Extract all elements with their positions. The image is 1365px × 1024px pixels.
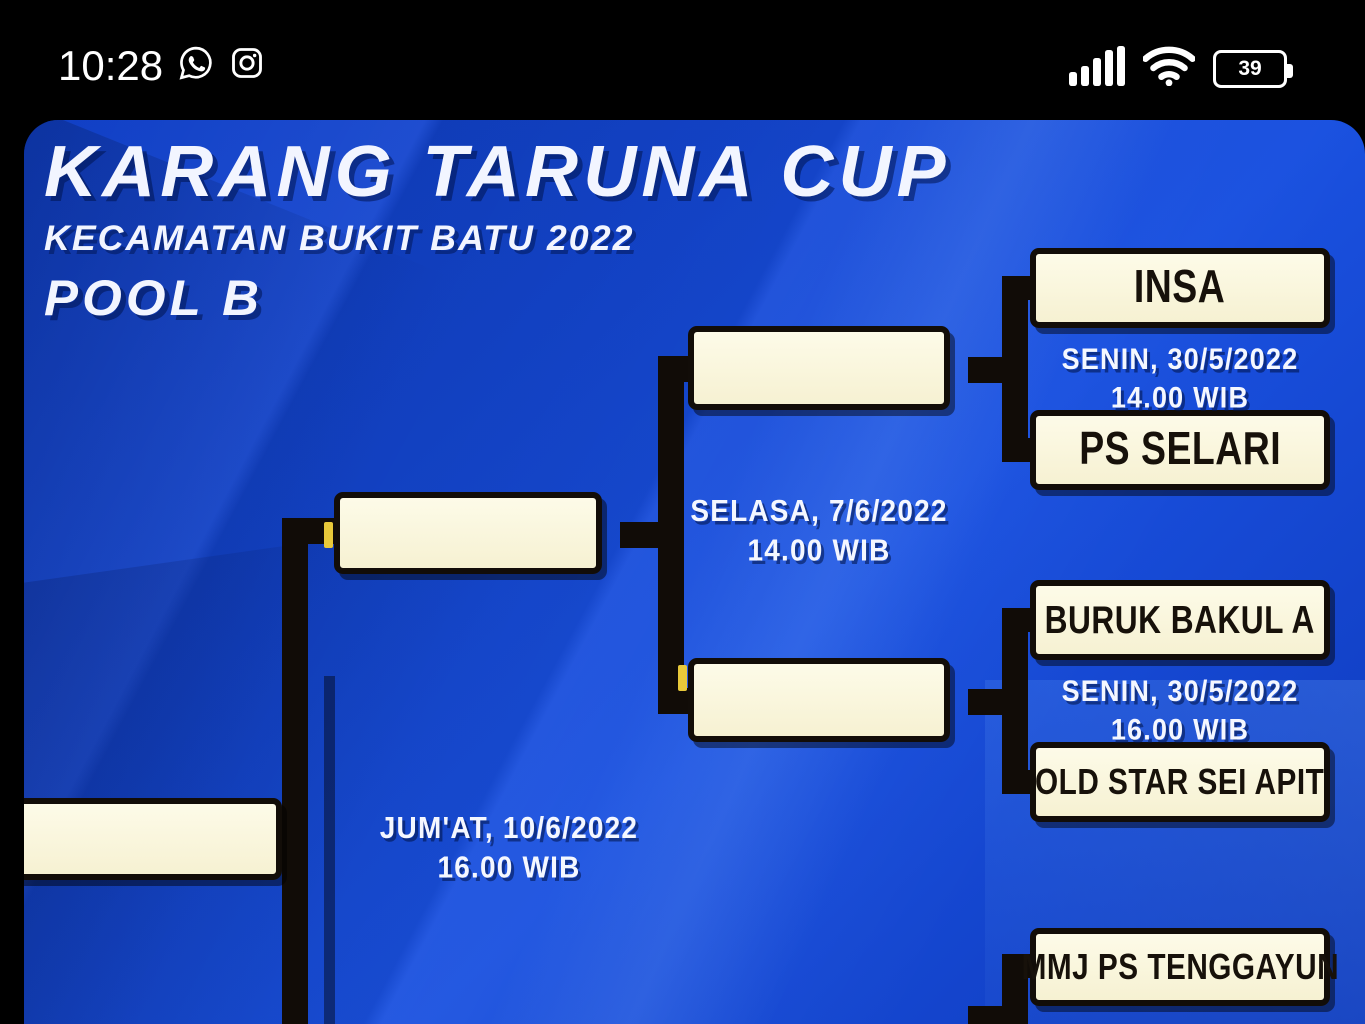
wifi-icon — [1143, 46, 1195, 91]
poster-title: KARANG TARUNA CUP — [44, 138, 951, 207]
bracket-connector-arm — [968, 689, 1012, 715]
match-date: SENIN, 30/5/2022 — [1062, 675, 1299, 708]
team-box-buruk-bakul-a[interactable]: BURUK BAKUL A — [1030, 580, 1330, 660]
match-time: 14.00 WIB — [1030, 379, 1330, 417]
match-date: JUM'AT, 10/6/2022 — [380, 811, 638, 845]
team-box-ps-selari[interactable]: PS SELARI — [1030, 410, 1330, 490]
match-date: SELASA, 7/6/2022 — [690, 494, 947, 528]
match-time: 16.00 WIB — [354, 848, 664, 887]
slot-accent-dot — [324, 522, 333, 548]
team-name: PS SELARI — [1079, 424, 1281, 476]
team-name: INSA — [1134, 262, 1225, 314]
team-box-insa[interactable]: INSA — [1030, 248, 1330, 328]
poster-title-block: KARANG TARUNA CUP KECAMATAN BUKIT BATU 2… — [44, 138, 933, 327]
team-name: BURUK BAKUL A — [1045, 598, 1315, 643]
bracket-connector-shadow — [324, 676, 335, 1024]
status-bar-right: 39 — [1069, 46, 1287, 91]
status-bar: 10:28 — [0, 0, 1365, 118]
poster-subtitle: KECAMATAN BUKIT BATU 2022 — [44, 213, 951, 266]
match-schedule-final: JUM'AT, 10/6/2022 16.00 WIB — [354, 808, 664, 887]
match-schedule-qf1: SENIN, 30/5/2022 14.00 WIB — [1030, 341, 1330, 417]
poster-pool-label: POOL B — [44, 270, 951, 328]
battery-level-label: 39 — [1238, 58, 1261, 79]
bracket-connector-vertical — [282, 520, 308, 1024]
phone-screenshot: 10:28 — [0, 0, 1365, 1024]
team-box-old-star-sei-apit[interactable]: OLD STAR SEI APIT — [1030, 742, 1330, 822]
whatsapp-icon — [177, 44, 215, 87]
match-date: SELASA, 31/5/2022 — [1047, 1020, 1312, 1024]
bracket-connector-arm — [968, 357, 1012, 383]
match-schedule-semifinal: SELASA, 7/6/2022 14.00 WIB — [664, 491, 974, 570]
team-name: OLD STAR SEI APIT — [1035, 761, 1324, 803]
semifinal-slot-top[interactable] — [688, 326, 950, 410]
match-schedule-qf3: SELASA, 31/5/2022 — [1030, 1017, 1330, 1024]
match-schedule-qf2: SENIN, 30/5/2022 16.00 WIB — [1030, 673, 1330, 749]
champion-slot[interactable] — [24, 798, 282, 880]
team-box-mmj-ps-tenggayun[interactable]: MMJ PS TENGGAYUN — [1030, 928, 1330, 1006]
slot-accent-dot — [678, 665, 687, 691]
battery-icon: 39 — [1213, 50, 1287, 88]
bracket-connector-arm — [620, 522, 666, 548]
match-date: SENIN, 30/5/2022 — [1062, 343, 1299, 376]
bracket-connector-arm — [968, 1006, 1012, 1024]
tournament-bracket-poster: KARANG TARUNA CUP KECAMATAN BUKIT BATU 2… — [24, 120, 1365, 1024]
match-time: 14.00 WIB — [664, 531, 974, 570]
team-name: MMJ PS TENGGAYUN — [1021, 946, 1338, 988]
signal-icon — [1069, 46, 1125, 91]
instagram-icon — [229, 45, 265, 86]
status-bar-left: 10:28 — [58, 44, 265, 87]
semifinal-slot-bottom[interactable] — [688, 658, 950, 742]
match-time: 16.00 WIB — [1030, 711, 1330, 749]
clock-time: 10:28 — [58, 45, 163, 87]
final-slot[interactable] — [334, 492, 602, 574]
